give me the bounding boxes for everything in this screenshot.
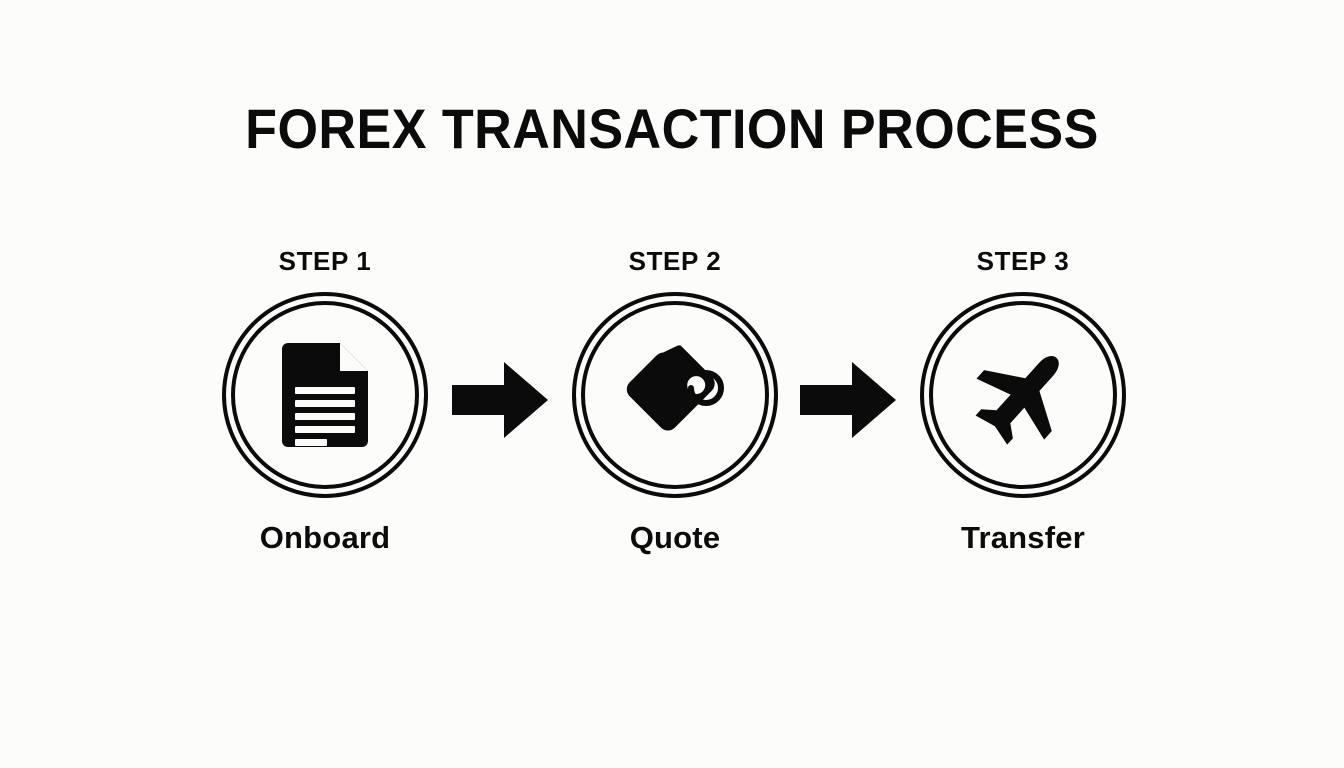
step-1-badge[interactable] [222,292,428,498]
step-3-kicker: STEP 3 [873,248,1173,274]
step-3-label: Transfer [873,522,1173,553]
price-tag-icon [572,292,778,498]
process-step-2[interactable]: STEP 2 Quote [525,248,825,553]
process-step-3[interactable]: STEP 3 Transfer [873,248,1173,553]
step-2-kicker: STEP 2 [525,248,825,274]
step-2-label: Quote [525,522,825,553]
process-flow: STEP 1 Onboard [0,0,1344,768]
diagram-canvas: FOREX TRANSACTION PROCESS STEP 1 [0,0,1344,768]
process-step-1[interactable]: STEP 1 Onboard [175,248,475,553]
document-icon [222,292,428,498]
step-3-badge[interactable] [920,292,1126,498]
step-1-kicker: STEP 1 [175,248,475,274]
step-1-label: Onboard [175,522,475,553]
airplane-icon [920,292,1126,498]
step-2-badge[interactable] [572,292,778,498]
